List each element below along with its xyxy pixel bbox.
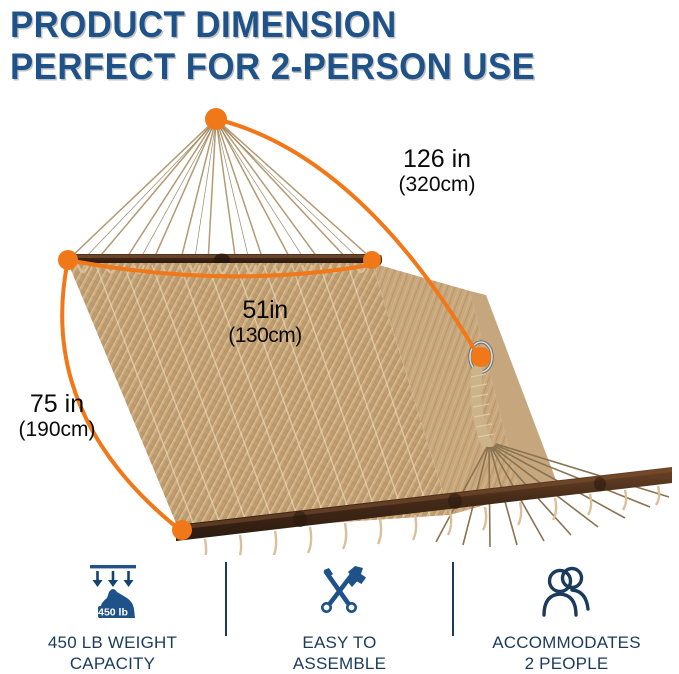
endpoint-bottom-left bbox=[172, 520, 192, 540]
endpoint-top bbox=[205, 108, 227, 130]
endpoint-bar-left bbox=[58, 250, 78, 270]
feature-easy-assemble: EASY TO ASSEMBLE bbox=[227, 556, 452, 674]
dimension-label-height: 75 in (190cm) bbox=[2, 390, 112, 442]
endpoint-ring bbox=[471, 347, 491, 367]
height-metric: (190cm) bbox=[2, 418, 112, 442]
length-imperial: 126 in bbox=[357, 145, 517, 173]
suspension-ropes-left-dark bbox=[82, 121, 360, 264]
length-metric: (320cm) bbox=[357, 173, 517, 197]
width-metric: (130cm) bbox=[195, 324, 335, 348]
page-title: PRODUCT DIMENSION PERFECT FOR 2-PERSON U… bbox=[10, 4, 610, 88]
endpoint-bar-right bbox=[363, 251, 381, 269]
dimension-label-length: 126 in (320cm) bbox=[357, 145, 517, 197]
page-title-line-1: PRODUCT DIMENSION bbox=[10, 4, 574, 46]
height-imperial: 75 in bbox=[2, 390, 112, 418]
feature-caption-people: ACCOMMODATES 2 PEOPLE bbox=[492, 632, 640, 674]
page-title-line-2: PERFECT FOR 2-PERSON USE bbox=[10, 46, 574, 88]
feature-caption-weight: 450 LB WEIGHT CAPACITY bbox=[48, 632, 177, 674]
suspension-ropes-left bbox=[68, 119, 372, 263]
feature-strip: 450 lb 450 LB WEIGHT CAPACITY bbox=[0, 556, 679, 674]
weight-badge-text: 450 lb bbox=[98, 606, 128, 618]
width-imperial: 51in bbox=[195, 296, 335, 324]
feature-weight-capacity: 450 lb 450 LB WEIGHT CAPACITY bbox=[0, 556, 225, 674]
product-dimension-infographic: PRODUCT DIMENSION PERFECT FOR 2-PERSON U… bbox=[0, 0, 679, 674]
feature-accommodates: ACCOMMODATES 2 PEOPLE bbox=[454, 556, 679, 674]
two-people-icon bbox=[536, 560, 598, 622]
weight-capacity-icon: 450 lb bbox=[82, 560, 144, 622]
product-image bbox=[0, 95, 679, 555]
dimension-label-width: 51in (130cm) bbox=[195, 296, 335, 348]
feature-caption-assemble: EASY TO ASSEMBLE bbox=[293, 632, 386, 674]
tools-icon bbox=[310, 560, 370, 622]
